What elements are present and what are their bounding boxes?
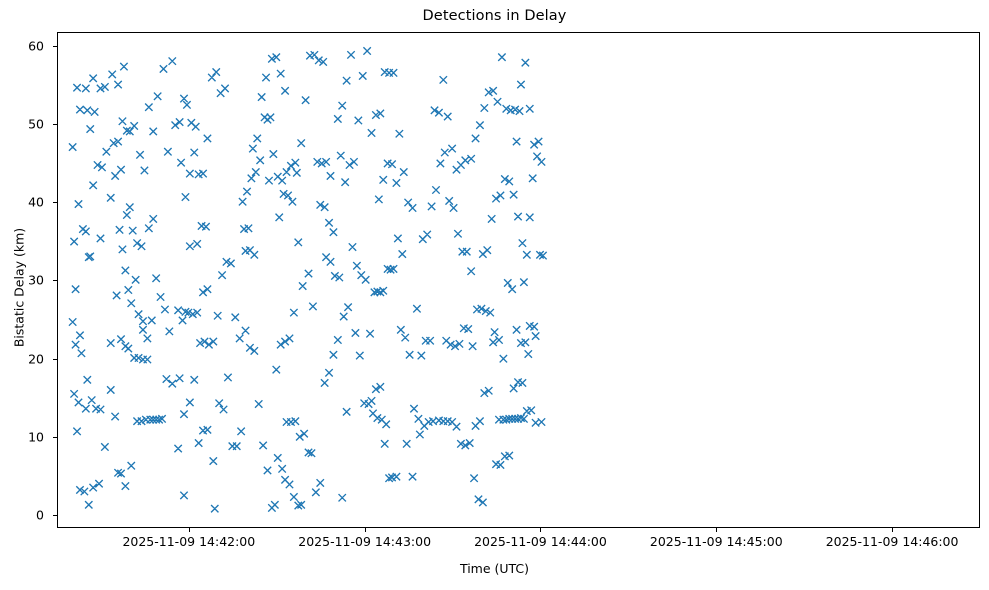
x-tick-mark: [892, 528, 893, 532]
marker-group: [69, 47, 547, 512]
figure-canvas: Detections in Delay 0102030405060 2025-1…: [0, 0, 989, 590]
plot-area[interactable]: [57, 32, 980, 528]
x-tick-label: 2025-11-09 14:44:00: [445, 534, 635, 549]
x-axis-label: Time (UTC): [0, 561, 989, 576]
y-tick-mark: [53, 437, 57, 438]
x-tick-label: 2025-11-09 14:42:00: [94, 534, 284, 549]
x-tick-label: 2025-11-09 14:43:00: [270, 534, 460, 549]
x-tick-mark: [716, 528, 717, 532]
y-tick-label: 0: [0, 507, 44, 522]
scatter-series: [58, 33, 980, 528]
x-tick-mark: [365, 528, 366, 532]
y-tick-mark: [53, 280, 57, 281]
y-axis-label: Bistatic Delay (km): [12, 188, 27, 388]
y-tick-mark: [53, 202, 57, 203]
y-tick-mark: [53, 359, 57, 360]
y-tick-mark: [53, 515, 57, 516]
y-tick-mark: [53, 46, 57, 47]
y-tick-label: 10: [0, 429, 44, 444]
page-title: Detections in Delay: [0, 8, 989, 24]
y-tick-label: 50: [0, 117, 44, 132]
y-tick-mark: [53, 124, 57, 125]
x-tick-mark: [540, 528, 541, 532]
x-tick-label: 2025-11-09 14:46:00: [797, 534, 987, 549]
y-tick-label: 60: [0, 39, 44, 54]
x-tick-label: 2025-11-09 14:45:00: [621, 534, 811, 549]
x-tick-mark: [189, 528, 190, 532]
scatter-marker-path: [69, 47, 547, 512]
